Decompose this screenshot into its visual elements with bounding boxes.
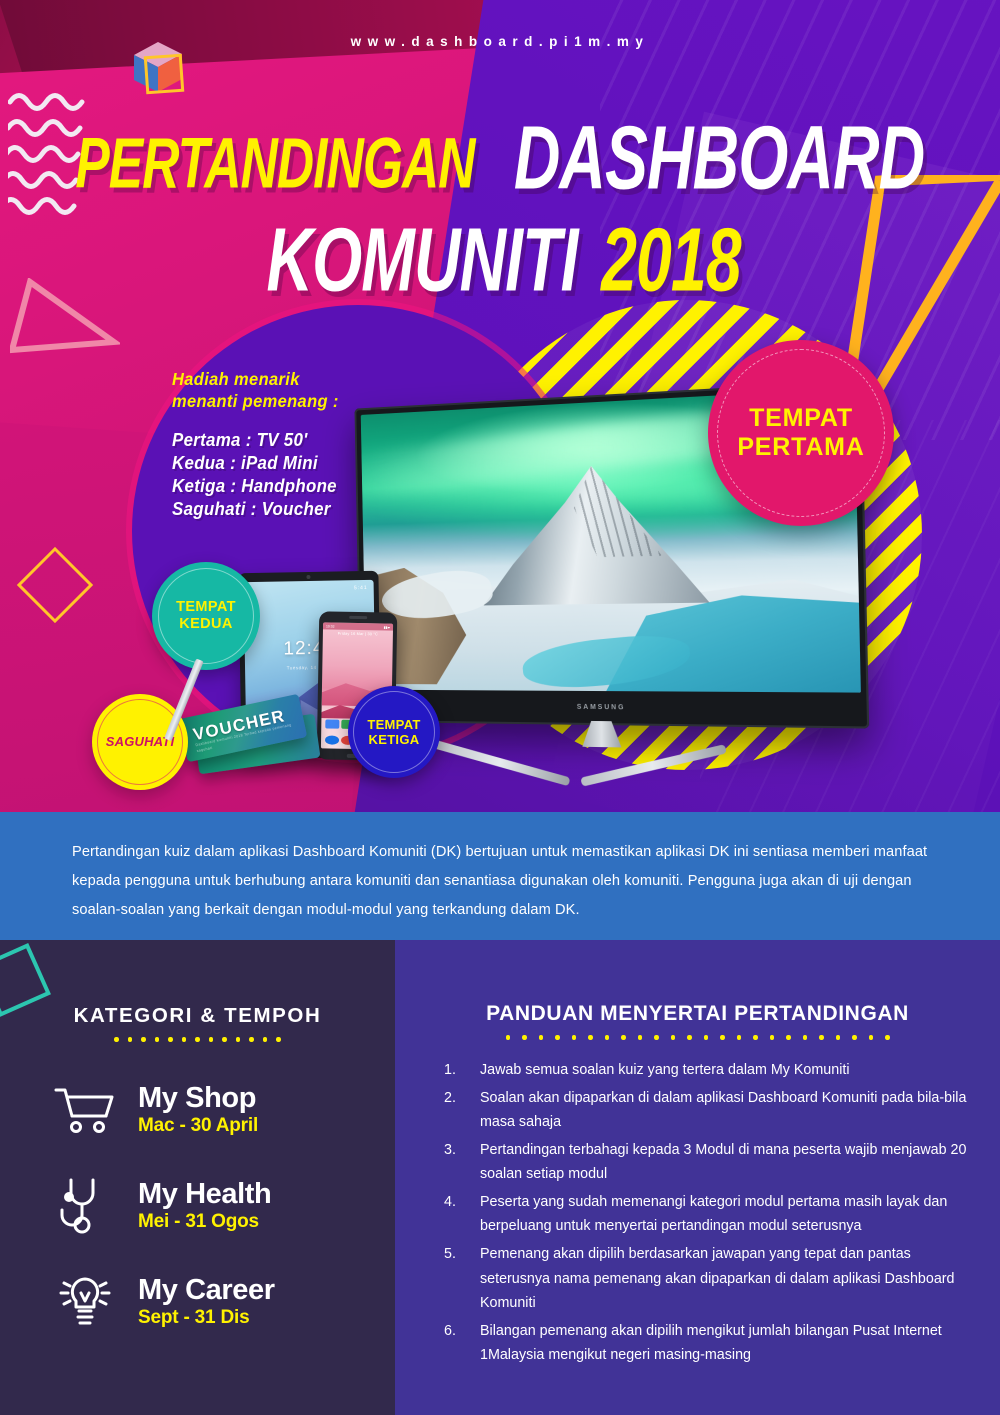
badge-saguhati: SAGUHATI <box>92 694 188 790</box>
title-komuniti: KOMUNITI <box>266 209 577 311</box>
bottom-section: KATEGORI & TEMPOH <box>0 940 1000 1415</box>
badge-kedua-line2: KEDUA <box>179 616 233 633</box>
phone-weather-widget: Friday 16 Mar | 30 °C <box>323 631 393 636</box>
badge-tempat-kedua: TEMPAT KEDUA <box>152 562 260 670</box>
guideline-number: 3. <box>444 1138 474 1163</box>
shopping-cart-icon <box>52 1085 118 1135</box>
guideline-number: 4. <box>444 1190 474 1215</box>
stethoscope-icon <box>52 1177 118 1235</box>
hero-section: www.dashboard.pi1m.my PERTANDINGAN DASHB… <box>0 0 1000 812</box>
description-text: Pertandingan kuiz dalam aplikasi Dashboa… <box>72 838 934 926</box>
guideline-item: 1. Jawab semua soalan kuiz yang tertera … <box>440 1058 968 1083</box>
guideline-text: Bilangan pemenang akan dipilih mengikut … <box>480 1323 942 1364</box>
guideline-text: Pertandingan terbahagi kepada 3 Modul di… <box>480 1142 966 1183</box>
guideline-item: 6. Bilangan pemenang akan dipilih mengik… <box>440 1319 968 1368</box>
guideline-text: Peserta yang sudah memenangi kategori mo… <box>480 1194 947 1235</box>
tablet-status-bar: 5:41 <box>354 585 368 591</box>
badge-ketiga-line2: KETIGA <box>369 732 420 747</box>
categories-column: KATEGORI & TEMPOH <box>0 940 395 1415</box>
guideline-item: 5. Pemenang akan dipilih berdasarkan jaw… <box>440 1242 968 1316</box>
description-band: Pertandingan kuiz dalam aplikasi Dashboa… <box>0 812 1000 940</box>
website-url: www.dashboard.pi1m.my <box>0 34 1000 49</box>
category-item-my-health: My Health Mei - 31 Ogos <box>52 1158 382 1254</box>
category-item-my-shop: My Shop Mac - 30 April <box>52 1062 382 1158</box>
badge-pertama-line1: TEMPAT <box>749 404 853 434</box>
guidelines-title-block: PANDUAN MENYERTAI PERTANDINGAN <box>395 1002 1000 1040</box>
decor-yellow-square-outline <box>144 54 185 95</box>
badge-pertama-line2: PERTAMA <box>737 433 864 463</box>
guideline-item: 3. Pertandingan terbahagi kepada 3 Modul… <box>440 1138 968 1187</box>
category-list: My Shop Mac - 30 April My H <box>52 1062 382 1350</box>
category-name: My Shop <box>138 1083 258 1113</box>
category-name: My Health <box>138 1179 271 1209</box>
guideline-item: 2. Soalan akan dipaparkan di dalam aplik… <box>440 1086 968 1135</box>
badge-kedua-line1: TEMPAT <box>176 599 236 616</box>
title-pertandingan: PERTANDINGAN <box>75 121 474 204</box>
poster-root: www.dashboard.pi1m.my PERTANDINGAN DASHB… <box>0 0 1000 1415</box>
guidelines-list: 1. Jawab semua soalan kuiz yang tertera … <box>440 1058 968 1371</box>
phone-status-bar: 10:02 ▮▮▰ <box>323 622 393 630</box>
dot-divider <box>395 1035 1000 1040</box>
badge-tempat-ketiga: TEMPAT KETIGA <box>348 686 440 778</box>
badge-tempat-pertama: TEMPAT PERTAMA <box>708 340 894 526</box>
phone-status-icons: ▮▮▰ <box>384 625 390 629</box>
guideline-text: Pemenang akan dipilih berdasarkan jawapa… <box>480 1246 954 1311</box>
guidelines-title: PANDUAN MENYERTAI PERTANDINGAN <box>395 1002 1000 1026</box>
page-title: PERTANDINGAN DASHBOARD KOMUNITI 2018 <box>0 118 1000 300</box>
dot-divider <box>0 1037 395 1042</box>
tv-brand-label: SAMSUNG <box>577 704 626 711</box>
tablet-camera <box>306 575 310 579</box>
categories-title: KATEGORI & TEMPOH <box>0 1004 395 1028</box>
category-period: Mei - 31 Ogos <box>138 1211 271 1233</box>
category-period: Mac - 30 April <box>138 1115 258 1137</box>
guideline-number: 1. <box>444 1058 474 1083</box>
title-dashboard: DASHBOARD <box>514 107 924 209</box>
guidelines-column: PANDUAN MENYERTAI PERTANDINGAN 1. Jawab … <box>395 940 1000 1415</box>
guideline-item: 4. Peserta yang sudah memenangi kategori… <box>440 1190 968 1239</box>
prize-heading-line1: Hadiah menarik <box>172 368 416 390</box>
guideline-number: 5. <box>444 1242 474 1267</box>
category-name: My Career <box>138 1275 275 1305</box>
guideline-number: 6. <box>444 1319 474 1344</box>
category-item-my-career: My Career Sept - 31 Dis <box>52 1254 382 1350</box>
categories-title-block: KATEGORI & TEMPOH <box>0 1004 395 1042</box>
category-period: Sept - 31 Dis <box>138 1307 275 1329</box>
lightbulb-icon <box>52 1273 118 1331</box>
guideline-text: Soalan akan dipaparkan di dalam aplikasi… <box>480 1090 966 1131</box>
guideline-number: 2. <box>444 1086 474 1111</box>
guideline-text: Jawab semua soalan kuiz yang tertera dal… <box>480 1062 850 1078</box>
title-year: 2018 <box>601 209 741 311</box>
phone-status-time: 10:02 <box>326 624 335 628</box>
badge-ketiga-line1: TEMPAT <box>367 717 420 732</box>
phone-speaker <box>349 616 367 619</box>
